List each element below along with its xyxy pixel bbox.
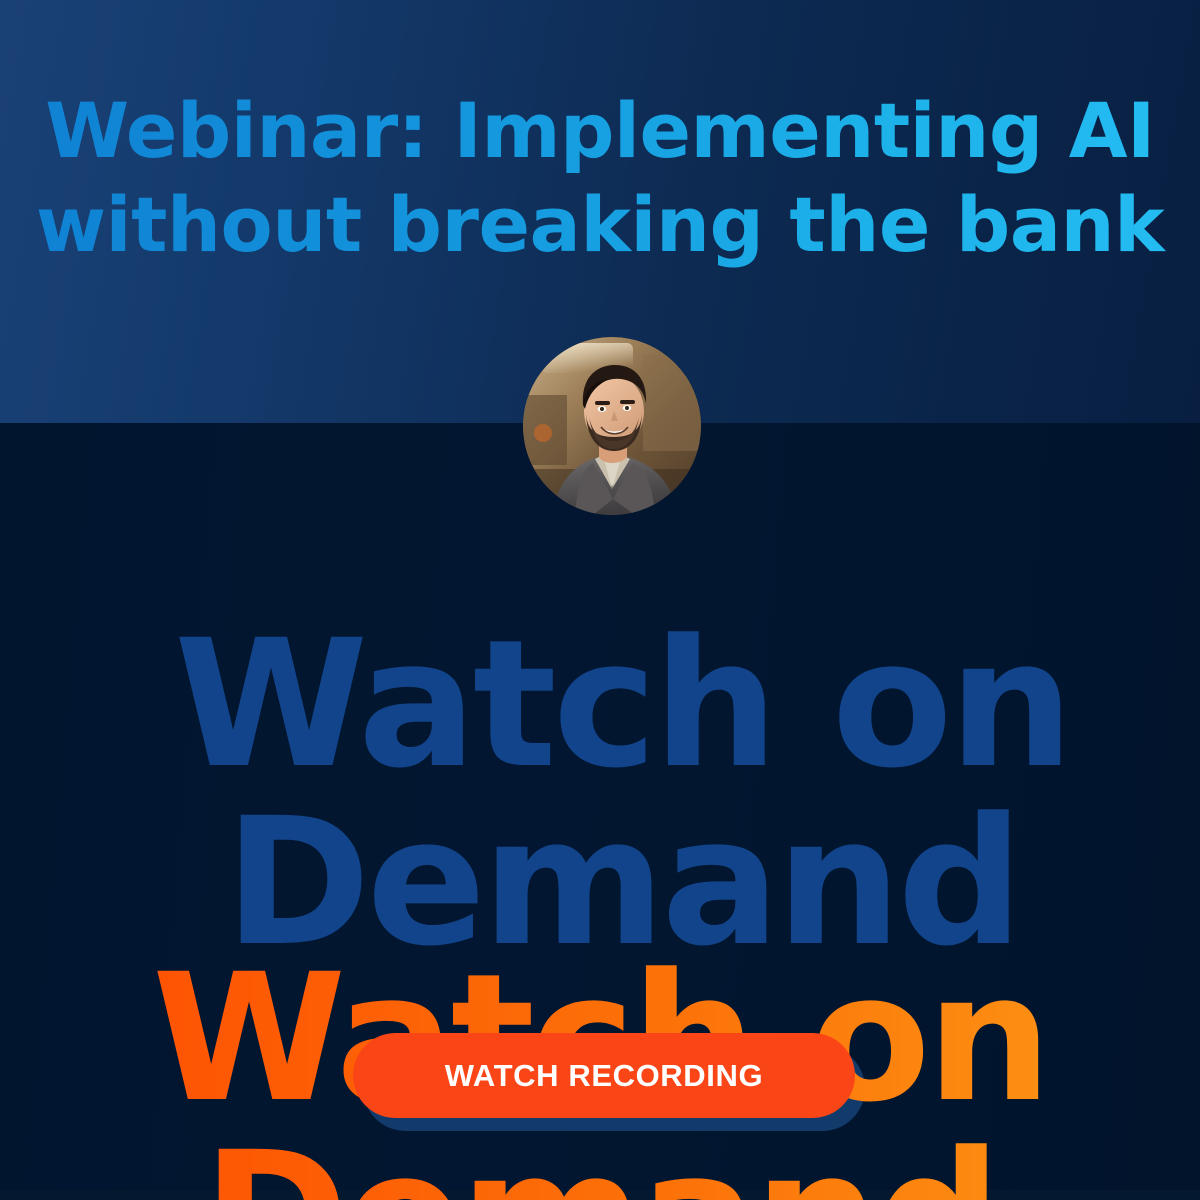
speaker-headshot-photo xyxy=(523,337,701,515)
cta-button-container: WATCH RECORDING xyxy=(353,1033,855,1118)
cta-headline-shadow: Watch on Demand xyxy=(22,616,1200,972)
watch-recording-button[interactable]: WATCH RECORDING xyxy=(353,1033,855,1118)
webinar-promo-card: Webinar: Implementing AI without breakin… xyxy=(0,0,1200,1200)
webinar-title: Webinar: Implementing AI without breakin… xyxy=(0,84,1200,272)
avatar xyxy=(523,337,701,515)
